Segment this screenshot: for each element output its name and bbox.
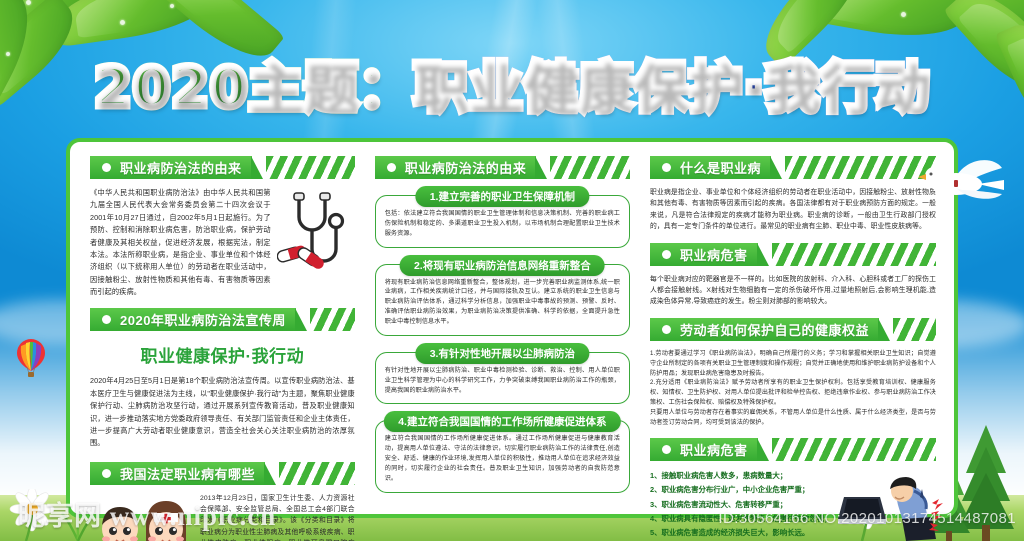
measure-card: 1.建立完善的职业卫生保障机制 包括：依法建立符合我国国情的职业卫生管理体制和信… xyxy=(375,195,630,248)
section-title: 职业病危害 xyxy=(680,440,748,459)
hot-air-balloon-icon xyxy=(14,337,48,381)
title-part-sep: · xyxy=(743,52,765,124)
header-stripes xyxy=(266,156,355,179)
bullet-dot-icon xyxy=(102,315,111,324)
title-part-action: 我行动 xyxy=(765,52,930,124)
section-body-hazards-list: 1、接触职业病危害人数多，患病数量大； 2、职业病危害分布行业广，中小企业危害严… xyxy=(650,469,936,541)
paragraph-origin-of-law: 《中华人民共和国职业病防治法》由中华人民共和国第九届全国人民代表大会常务委员会第… xyxy=(90,187,271,298)
measure-card: 3.有针对性地开展以尘肺病防治 有针对性地开展以尘肺病防治、职业中毒检测检验、诊… xyxy=(375,352,630,405)
header-stripes xyxy=(893,318,936,341)
bullet-dot-icon xyxy=(387,163,396,172)
campaign-slogan: 职业健康保护·我行动 xyxy=(90,342,355,367)
watermark-id: ID:30564166 NO:20201013174514487081 xyxy=(718,510,1016,527)
card-body: 将现有职业病防治信息网络重新整合，整体规划，进一步完善职业病监测体系,统一职业病… xyxy=(385,278,620,327)
card-title-pill: 2.将现有职业病防治信息网络重新整合 xyxy=(400,255,605,276)
watermark-site: 昵享网 www.nipic.cn xyxy=(18,494,276,533)
content-board: 职业病防治法的由来 《中华人民共和国职业病防治法》由中华人民共和国第九届全国人民… xyxy=(66,138,958,518)
card-title-pill: 4.建立符合我国国情的工作场所健康促进体系 xyxy=(384,411,620,432)
column-left: 职业病防治法的由来 《中华人民共和国职业病防治法》由中华人民共和国第九届全国人民… xyxy=(82,156,365,504)
bullet-dot-icon xyxy=(662,250,671,259)
card-body: 建立符合我国国情的工作场所健康促进体系。通过工作场所健康促进与健康教育活动，提高… xyxy=(385,434,620,483)
section-title: 劳动者如何保护自己的健康权益 xyxy=(680,320,869,339)
header-stripes xyxy=(772,438,936,461)
header-stripes xyxy=(550,156,630,179)
card-body: 包括：依法建立符合我国国情的职业卫生管理体制和信息决策机制、完善的职业病工伤保险… xyxy=(385,209,620,239)
card-title-pill: 3.有针对性地开展以尘肺病防治 xyxy=(416,343,589,364)
section-header-worker-rights: 劳动者如何保护自己的健康权益 xyxy=(650,318,936,341)
section-title: 职业病防治法的由来 xyxy=(120,158,242,177)
section-title: 什么是职业病 xyxy=(680,158,761,177)
bullet-dot-icon xyxy=(662,445,671,454)
bullet-dot-icon xyxy=(102,163,111,172)
worker-back-pain-icon xyxy=(836,475,948,541)
hazard-list: 1、接触职业病危害人数多，患病数量大； 2、职业病危害分布行业广，中小企业危害严… xyxy=(650,469,832,541)
title-part-year: 2020主题： xyxy=(94,52,413,124)
header-stripes xyxy=(310,308,355,331)
section-header-legal-diseases: 我国法定职业病有哪些 xyxy=(90,462,355,485)
bullet-dot-icon xyxy=(662,325,671,334)
paragraph-hazards: 每个职业病对应的靶器官是不一样的。比如医院的放射科、介入科、心胆科或者工厂的探伤… xyxy=(650,274,936,308)
header-stripes xyxy=(279,462,355,485)
section-header-hazards-list: 职业病危害 xyxy=(650,438,936,461)
section-title: 2020年职业病防治法宣传周 xyxy=(120,310,286,329)
section-title: 职业病防治法的由来 xyxy=(405,158,527,177)
poster-canvas: 2020主题：职业健康保护 · 我行动 xyxy=(0,0,1024,541)
bullet-dot-icon xyxy=(102,469,111,478)
measure-card: 2.将现有职业病防治信息网络重新整合 将现有职业病防治信息网络重新整合，整体规划… xyxy=(375,264,630,336)
header-stripes xyxy=(772,243,936,266)
paragraph-what-is-occupational-disease: 职业病是指企业、事业单位和个体经济组织的劳动者在职业活动中，因接触粉尘、放射性物… xyxy=(650,187,936,233)
list-item: 5、职业病危害造成的经济损失巨大，影响长远。 xyxy=(650,526,832,540)
column-right: 什么是职业病 职业病是指企业、事业单位和个体经济组织的劳动者在职业活动中，因接触… xyxy=(640,156,942,504)
card-body: 有针对性地开展以尘肺病防治、职业中毒检测检验、诊断、救治、控制、用人单位职业卫生… xyxy=(385,366,620,396)
section-body-origin-of-law: 《中华人民共和国职业病防治法》由中华人民共和国第九届全国人民代表大会常务委员会第… xyxy=(90,187,355,298)
column-middle: 职业病防治法的由来 1.建立完善的职业卫生保障机制 包括：依法建立符合我国国情的… xyxy=(365,156,640,504)
poster-title: 2020主题：职业健康保护 · 我行动 xyxy=(0,52,1024,128)
paragraph-publicity-week: 2020年4月25日至5月1日是第18个职业病防治法宣传周。以宣传职业病防治法、… xyxy=(90,375,355,449)
section-header-origin-of-law: 职业病防治法的由来 xyxy=(90,156,355,179)
section-title: 职业病危害 xyxy=(680,245,748,264)
bullet-dot-icon xyxy=(662,163,671,172)
paragraph-worker-rights: 1.劳动者要通过学习《职业病防治法》，明确自己所履行的义务；学习和掌握相关职业卫… xyxy=(650,349,936,428)
section-header-origin-of-law-2: 职业病防治法的由来 xyxy=(375,156,630,179)
list-item: 1、接触职业病危害人数多，患病数量大； xyxy=(650,469,832,483)
title-part-main: 职业健康保护 xyxy=(413,52,743,124)
section-header-what-is-occupational-disease: 什么是职业病 xyxy=(650,156,936,179)
white-dove-icon xyxy=(910,150,1006,212)
measure-card: 4.建立符合我国国情的工作场所健康促进体系 建立符合我国国情的工作场所健康促进体… xyxy=(375,420,630,492)
section-header-publicity-week: 2020年职业病防治法宣传周 xyxy=(90,308,355,331)
section-header-hazards: 职业病危害 xyxy=(650,243,936,266)
list-item: 2、职业病危害分布行业广，中小企业危害严重； xyxy=(650,483,832,497)
stethoscope-pills-icon xyxy=(277,187,355,271)
section-title: 我国法定职业病有哪些 xyxy=(120,464,255,483)
card-title-pill: 1.建立完善的职业卫生保障机制 xyxy=(416,186,589,207)
